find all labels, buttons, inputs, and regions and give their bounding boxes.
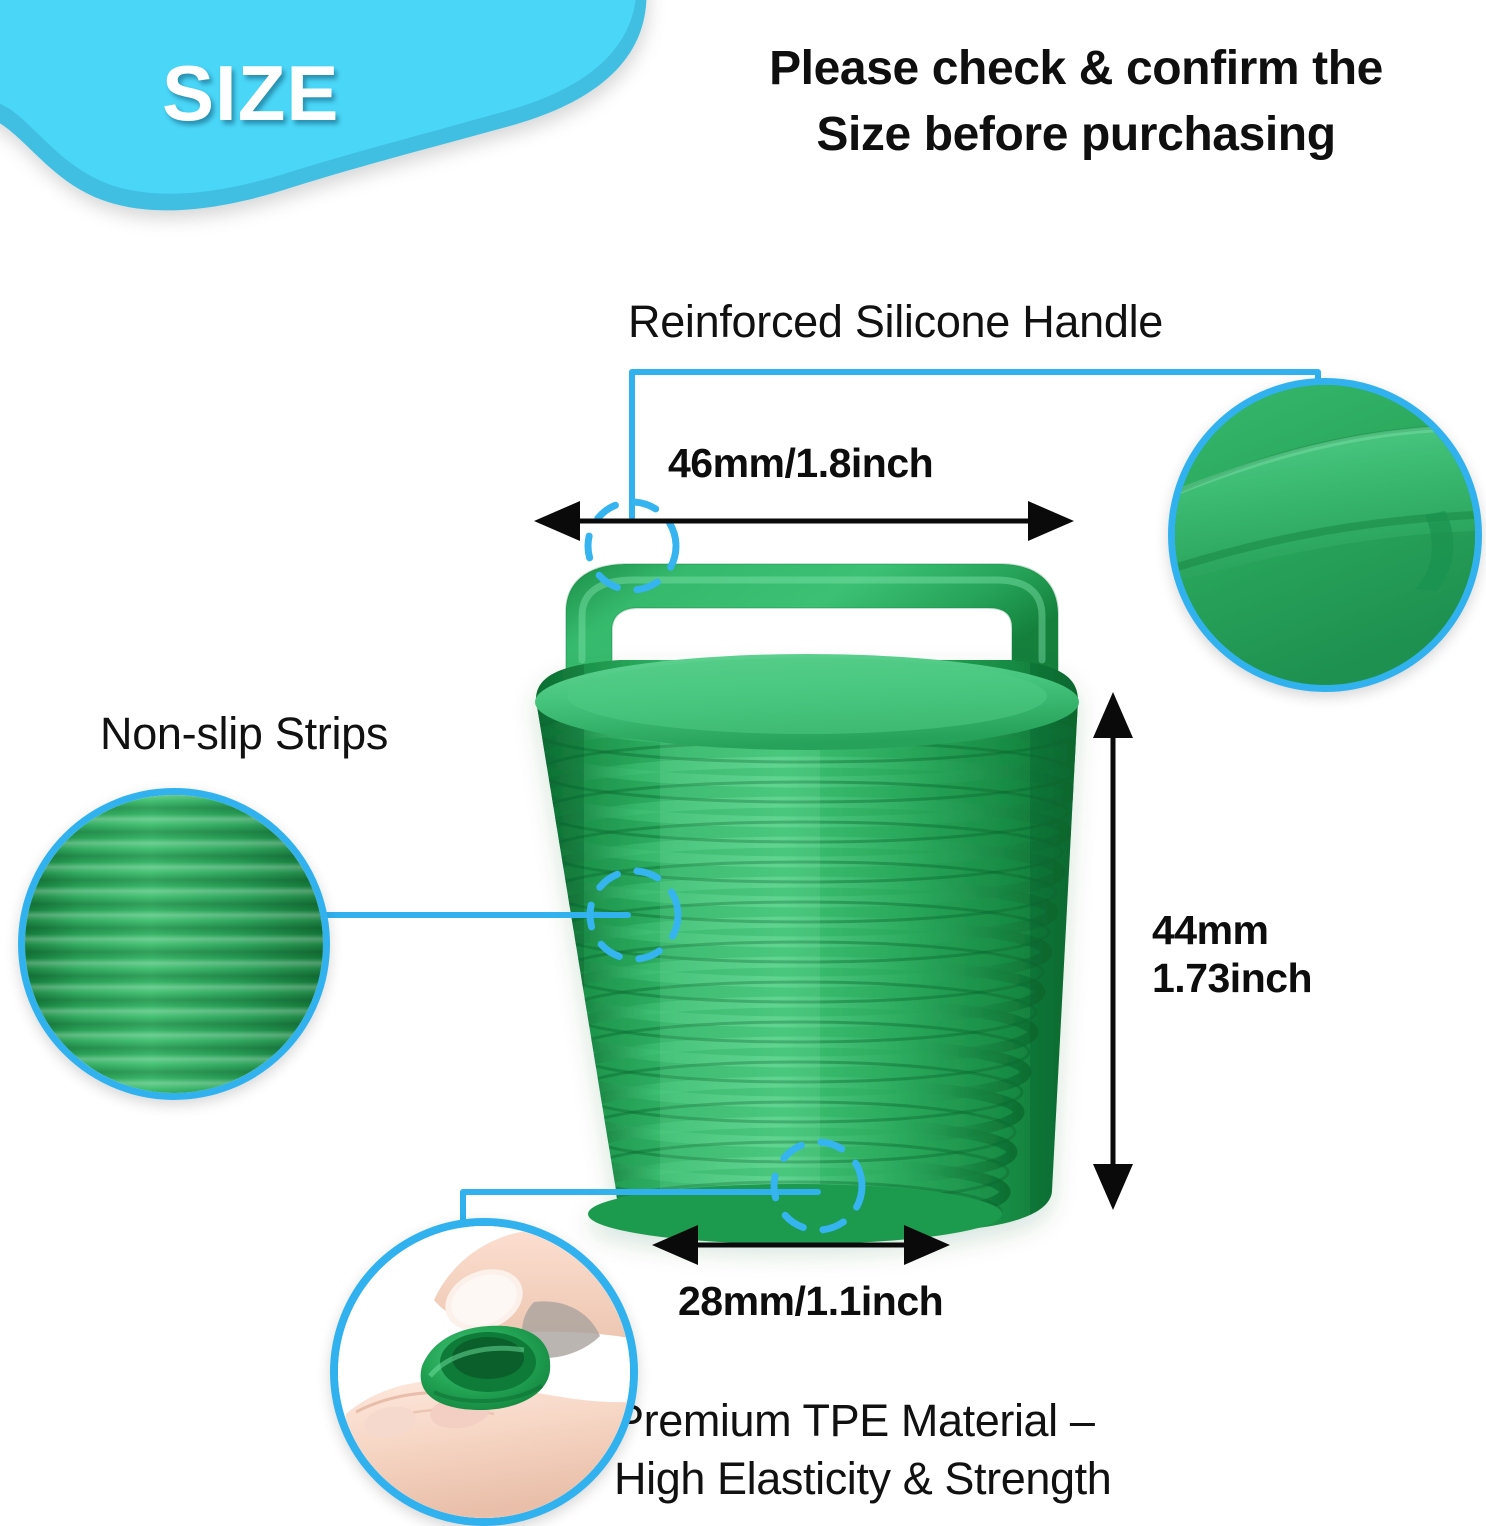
callout-line-material	[463, 1192, 818, 1220]
dimension-label-top-width: 46mm/1.8inch	[668, 440, 933, 487]
product-body	[520, 650, 1092, 1250]
size-badge: SIZE	[0, 0, 670, 240]
detail-circle-nonslip-texture	[18, 788, 330, 1100]
headline-line-2: Size before purchasing	[676, 102, 1476, 168]
size-badge-label: SIZE	[162, 48, 339, 139]
product-lid	[535, 654, 1079, 750]
dimension-arrow-height	[1093, 692, 1133, 1210]
dashed-marker-nonslip	[590, 871, 678, 959]
product-ribs	[520, 650, 1092, 1250]
label-tpe-line-1: Premium TPE Material –	[614, 1392, 1111, 1450]
detail-circle-handle	[1168, 378, 1482, 692]
label-tpe-line-2: High Elasticity & Strength	[614, 1450, 1111, 1508]
dimension-arrow-bottom-width	[652, 1225, 950, 1265]
infographic-canvas: SIZE Please check & confirm the Size bef…	[0, 0, 1486, 1500]
dimension-arrow-top-width	[534, 501, 1074, 541]
ribbed-texture-image	[25, 795, 323, 1093]
dashed-marker-handle	[588, 502, 676, 590]
dimension-height-mm: 44mm	[1152, 906, 1312, 954]
detail-circle-hand-holding-product	[330, 1218, 638, 1526]
hand-photo-image	[338, 1226, 630, 1518]
dashed-marker-material	[774, 1142, 862, 1230]
headline-line-1: Please check & confirm the	[676, 36, 1476, 102]
label-non-slip-strips: Non-slip Strips	[100, 708, 388, 760]
handle-closeup-image	[1175, 385, 1475, 685]
product-bottom	[588, 1184, 1002, 1244]
label-reinforced-silicone-handle: Reinforced Silicone Handle	[628, 296, 1163, 348]
dimension-height-inch: 1.73inch	[1152, 954, 1312, 1002]
label-premium-tpe-material: Premium TPE Material – High Elasticity &…	[614, 1392, 1111, 1507]
product-handle	[566, 564, 1058, 692]
dimension-label-bottom-width: 28mm/1.1inch	[678, 1278, 943, 1325]
product-lid-highlight	[567, 658, 1047, 734]
dimension-label-height: 44mm 1.73inch	[1152, 906, 1312, 1003]
headline: Please check & confirm the Size before p…	[676, 36, 1476, 168]
